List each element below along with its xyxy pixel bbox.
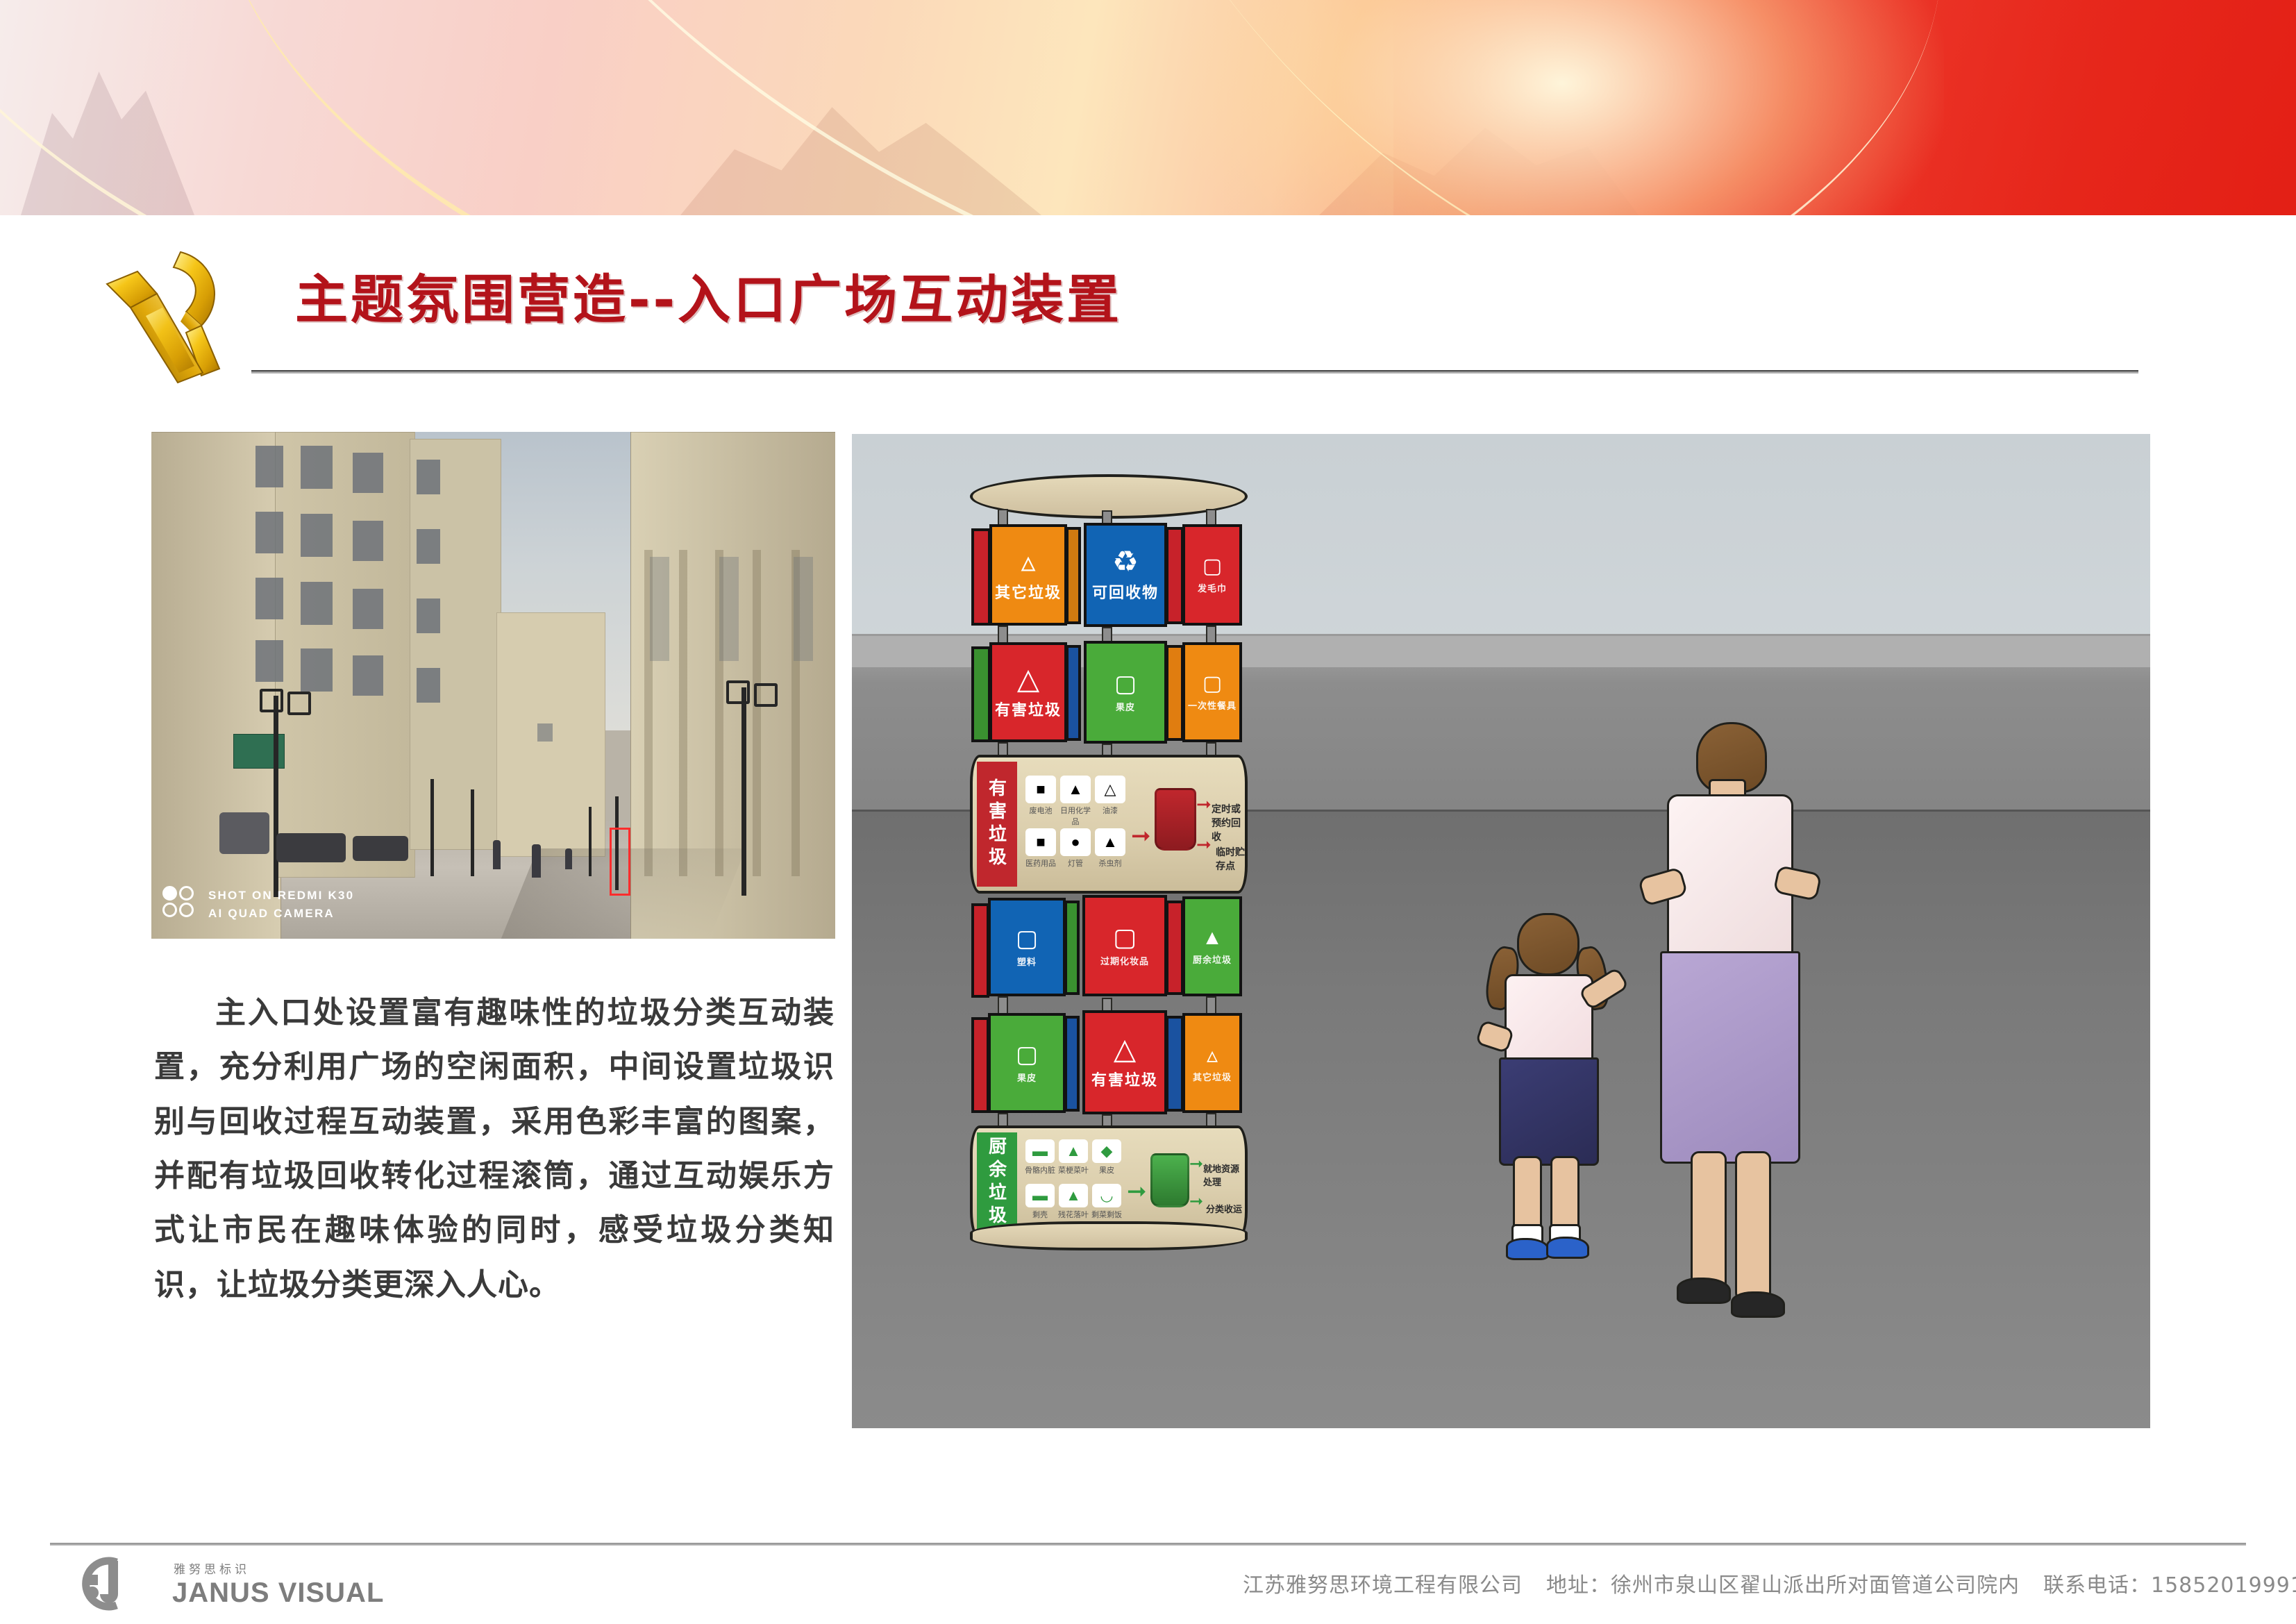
girl-left-shoe bbox=[1506, 1238, 1549, 1260]
icon-label: 骨骼内脏 bbox=[1024, 1164, 1056, 1175]
photo-lamp-head bbox=[726, 680, 750, 704]
photo-scooter bbox=[353, 836, 408, 861]
title-row: 主题氛围营造--入口广场互动装置 bbox=[0, 229, 2296, 389]
flow-arrow: ➞ bbox=[1189, 1194, 1203, 1210]
tile-peel-r4[interactable]: ▢ 果皮 bbox=[988, 1013, 1066, 1113]
tile-label: 塑料 bbox=[1017, 955, 1037, 968]
tile-other-waste-r4[interactable]: ▵ 其它垃圾 bbox=[1182, 1013, 1242, 1113]
tile-recyclable-r1[interactable]: ♻ 可回收物 bbox=[1084, 523, 1167, 627]
tile-label: 其它垃圾 bbox=[995, 580, 1062, 603]
tower-rod bbox=[1206, 996, 1216, 1014]
tile-label: 有害垃圾 bbox=[1091, 1068, 1158, 1090]
tile-label: 有害垃圾 bbox=[995, 698, 1062, 720]
tower-rod bbox=[998, 996, 1008, 1014]
tile-hazardous-r4[interactable]: △ 有害垃圾 bbox=[1082, 1010, 1167, 1114]
girl-right-shoe bbox=[1546, 1237, 1589, 1259]
icon-label: 日用化学品 bbox=[1059, 805, 1092, 827]
tile-side bbox=[1166, 527, 1184, 624]
icon-pesticide: ▲ bbox=[1095, 828, 1125, 856]
tile-label: 果皮 bbox=[1116, 700, 1135, 713]
photo-street-lamp bbox=[430, 779, 434, 876]
flow-label: 就地资源处理 bbox=[1203, 1162, 1245, 1188]
party-emblem-icon bbox=[97, 240, 257, 385]
hazardous-icon: △ bbox=[1017, 664, 1039, 694]
footer-phone: 15852019991 bbox=[2151, 1573, 2296, 1598]
footer-divider bbox=[50, 1543, 2246, 1546]
tile-other-waste-r1[interactable]: ▵ 其它垃圾 bbox=[989, 524, 1067, 626]
photo-window bbox=[353, 655, 383, 696]
icon-household-chemicals: ▲ bbox=[1060, 776, 1091, 803]
tile-side bbox=[1064, 1016, 1080, 1112]
photo-window bbox=[353, 521, 383, 561]
photo-street-lamp bbox=[589, 807, 592, 876]
tile-peel-r2[interactable]: ▢ 果皮 bbox=[1084, 641, 1167, 744]
photo-window bbox=[301, 514, 333, 557]
photo-window bbox=[301, 582, 333, 625]
page-title: 主题氛围营造--入口广场互动装置 bbox=[295, 257, 1122, 333]
watermark-line-1: SHOT ON REDMI K30 bbox=[208, 887, 354, 905]
interactive-sorting-tower[interactable]: ▵ 其它垃圾 ♻ 可回收物 ▢ 发毛巾 △ 有害垃圾 ▢ 果皮 ▢ 一次性 bbox=[970, 434, 1248, 1232]
tile-side bbox=[971, 1017, 989, 1113]
icon-fruit-peel: ◆ bbox=[1092, 1139, 1121, 1163]
girl-hair-bun bbox=[1517, 913, 1579, 976]
icon-waste-battery: ■ bbox=[1025, 776, 1056, 803]
tile-label: 果皮 bbox=[1017, 1071, 1037, 1084]
photo-window bbox=[417, 529, 440, 564]
woman-left-leg bbox=[1691, 1151, 1727, 1294]
tile-side bbox=[1166, 1016, 1184, 1112]
photo-column-2 bbox=[679, 550, 687, 876]
figure-adult-woman bbox=[1636, 722, 1817, 1354]
photo-street-lamp bbox=[274, 696, 278, 897]
footer-contact-info: 江苏雅努思环境工程有限公司地址：徐州市泉山区翟山派出所对面管道公司院内联系电话：… bbox=[1243, 1568, 2296, 1598]
footer-company: 江苏雅努思环境工程有限公司 bbox=[1243, 1573, 1523, 1598]
drum-hazardous[interactable]: 有害垃圾 ■ ▲ △ ■ ● ▲ 废电池 日用化学品 油漆 医药用品 灯管 杀虫… bbox=[970, 755, 1248, 894]
photo-window bbox=[301, 446, 333, 489]
photo-window bbox=[537, 723, 553, 742]
tile-label: 发毛巾 bbox=[1198, 581, 1227, 594]
figure-child-girl bbox=[1477, 913, 1623, 1357]
icon-label: 剩壳 bbox=[1024, 1209, 1056, 1220]
woman-right-shoe bbox=[1731, 1291, 1785, 1318]
tile-side bbox=[1166, 901, 1184, 995]
photo-lamp-head bbox=[287, 692, 311, 715]
other-waste-icon: ▵ bbox=[1207, 1044, 1218, 1066]
woman-right-leg bbox=[1735, 1151, 1771, 1301]
icon-lamp-tube: ● bbox=[1060, 828, 1091, 856]
icon-label: 医药用品 bbox=[1024, 857, 1057, 869]
photo-scooter bbox=[276, 833, 346, 862]
hazardous-icon: △ bbox=[1114, 1035, 1136, 1064]
photo-window bbox=[794, 557, 813, 661]
photo-building-left3 bbox=[410, 439, 501, 850]
kitchen-waste-icon: ▲ bbox=[1202, 928, 1223, 948]
photo-window bbox=[353, 453, 383, 493]
flow-label: 分类收运 bbox=[1206, 1202, 1242, 1215]
photo-lamp-head bbox=[260, 689, 283, 712]
title-underline bbox=[251, 370, 2138, 374]
icon-label: 剩菜剩饭 bbox=[1091, 1209, 1123, 1220]
drum-side-label: 厨余垃圾 bbox=[977, 1132, 1017, 1232]
icon-bones-organs: ▬ bbox=[1025, 1139, 1055, 1163]
photo-window bbox=[719, 557, 739, 661]
flow-label: 临时贮存点 bbox=[1216, 845, 1245, 873]
icon-vegetable-leaves: ▲ bbox=[1059, 1139, 1088, 1163]
other-waste-icon: ▵ bbox=[1021, 547, 1035, 576]
icon-label: 菜梗菜叶 bbox=[1057, 1164, 1089, 1175]
photo-window bbox=[255, 640, 283, 682]
banana-peel-icon: ▢ bbox=[1114, 672, 1137, 696]
photo-building-left bbox=[151, 432, 281, 939]
icon-label: 残花落叶 bbox=[1057, 1209, 1089, 1220]
logo-chinese-name: 雅努思标识 bbox=[174, 1559, 250, 1577]
photo-pedestrian bbox=[493, 840, 501, 869]
tile-hazardous-r2[interactable]: △ 有害垃圾 bbox=[989, 642, 1067, 742]
tile-label: 可回收物 bbox=[1092, 580, 1159, 603]
bottle-icon: ▢ bbox=[1016, 927, 1038, 951]
concept-render: ▵ 其它垃圾 ♻ 可回收物 ▢ 发毛巾 △ 有害垃圾 ▢ 果皮 ▢ 一次性 bbox=[852, 434, 2150, 1428]
tile-side bbox=[971, 646, 991, 742]
tile-side-left bbox=[971, 528, 991, 626]
flow-arrow: ➞ bbox=[1196, 835, 1212, 853]
flow-arrow: ➞ bbox=[1196, 795, 1212, 813]
tile-side bbox=[1066, 645, 1081, 741]
photo-lamp-head bbox=[754, 683, 778, 707]
tag-icon: ▢ bbox=[1203, 556, 1222, 577]
photo-window bbox=[255, 446, 283, 487]
cosmetics-icon: ▢ bbox=[1113, 925, 1137, 950]
photo-pedestrian bbox=[565, 848, 572, 869]
banana-peel-icon: ▢ bbox=[1016, 1043, 1038, 1066]
photo-watermark-icon bbox=[162, 886, 201, 921]
tile-label: 过期化妆品 bbox=[1100, 954, 1149, 967]
tile-chopsticks-r2[interactable]: ▢ 一次性餐具 bbox=[1182, 642, 1242, 742]
tile-label: 厨余垃圾 bbox=[1193, 953, 1232, 966]
woman-blouse bbox=[1667, 794, 1793, 962]
photo-tricycle bbox=[219, 812, 269, 854]
photo-column-4 bbox=[753, 550, 761, 876]
flow-arrow: ➞ bbox=[1131, 824, 1151, 848]
girl-top bbox=[1505, 974, 1593, 1067]
tile-side bbox=[1064, 901, 1080, 995]
photo-window bbox=[353, 589, 383, 629]
icon-fallen-flowers: ▲ bbox=[1059, 1184, 1088, 1207]
watermark-line-2: AI QUAD CAMERA bbox=[208, 905, 354, 923]
chopsticks-icon: ▢ bbox=[1203, 673, 1222, 694]
footer-phone-label: 联系电话： bbox=[2043, 1573, 2151, 1598]
site-photo: SHOT ON REDMI K30 AI QUAD CAMERA bbox=[151, 432, 835, 939]
flow-label: 定时或预约回收 bbox=[1212, 802, 1245, 844]
hazardous-bin bbox=[1155, 788, 1196, 851]
icon-paint: △ bbox=[1095, 776, 1125, 803]
photo-building-left2 bbox=[275, 432, 415, 878]
photo-street-lamp bbox=[471, 789, 474, 876]
photo-location-marker bbox=[610, 828, 630, 896]
photo-window bbox=[417, 598, 440, 633]
icon-label: 油漆 bbox=[1093, 805, 1127, 816]
tile-plastic-r3[interactable]: ▢ 塑料 bbox=[988, 898, 1066, 996]
photo-street-lamp bbox=[741, 687, 746, 896]
tile-side bbox=[1166, 645, 1184, 741]
tile-kitchen-waste-r3[interactable]: ▲ 厨余垃圾 bbox=[1182, 896, 1242, 996]
drum-side-label: 有害垃圾 bbox=[977, 762, 1017, 887]
girl-shorts bbox=[1499, 1057, 1599, 1166]
woman-left-shoe bbox=[1677, 1278, 1731, 1304]
icon-medicine: ■ bbox=[1025, 828, 1056, 856]
tower-base bbox=[970, 1221, 1248, 1250]
kitchen-bin bbox=[1150, 1153, 1189, 1207]
icon-shells: ▬ bbox=[1025, 1184, 1055, 1207]
icon-label: 果皮 bbox=[1091, 1164, 1123, 1175]
photo-window bbox=[301, 648, 333, 692]
photo-watermark-text: SHOT ON REDMI K30 AI QUAD CAMERA bbox=[208, 887, 354, 922]
icon-label: 杀虫剂 bbox=[1093, 857, 1127, 869]
icon-leftover-food: ◡ bbox=[1092, 1184, 1121, 1207]
photo-window bbox=[255, 512, 283, 553]
photo-window bbox=[255, 578, 283, 619]
icon-label: 废电池 bbox=[1024, 805, 1057, 816]
tile-side bbox=[971, 903, 989, 998]
flow-arrow: ➞ bbox=[1189, 1156, 1203, 1173]
header-banner bbox=[0, 0, 2296, 215]
icon-label: 灯管 bbox=[1059, 857, 1092, 869]
tile-expired-cosmetics-r3[interactable]: ▢ 过期化妆品 bbox=[1082, 895, 1167, 996]
logo-english-name: JANUS VISUAL bbox=[172, 1577, 384, 1609]
flow-arrow: ➞ bbox=[1127, 1180, 1147, 1203]
tile-side bbox=[1066, 527, 1081, 624]
photo-window bbox=[417, 460, 440, 494]
footer-address: 徐州市泉山区翟山派出所对面管道公司院内 bbox=[1611, 1573, 2020, 1598]
recycle-icon: ♻ bbox=[1112, 547, 1139, 576]
woman-skirt bbox=[1660, 951, 1800, 1164]
photo-window bbox=[650, 557, 669, 661]
tile-label: 一次性餐具 bbox=[1188, 698, 1237, 712]
tile-label: 其它垃圾 bbox=[1193, 1070, 1232, 1083]
footer-address-label: 地址： bbox=[1546, 1573, 1611, 1598]
tile-tag-r1[interactable]: ▢ 发毛巾 bbox=[1182, 524, 1242, 626]
photo-pedestrian bbox=[532, 844, 541, 878]
description-paragraph: 主入口处设置富有趣味性的垃圾分类互动装置，充分利用广场的空闲面积，中间设置垃圾识… bbox=[154, 986, 835, 1312]
photo-window bbox=[417, 668, 440, 703]
